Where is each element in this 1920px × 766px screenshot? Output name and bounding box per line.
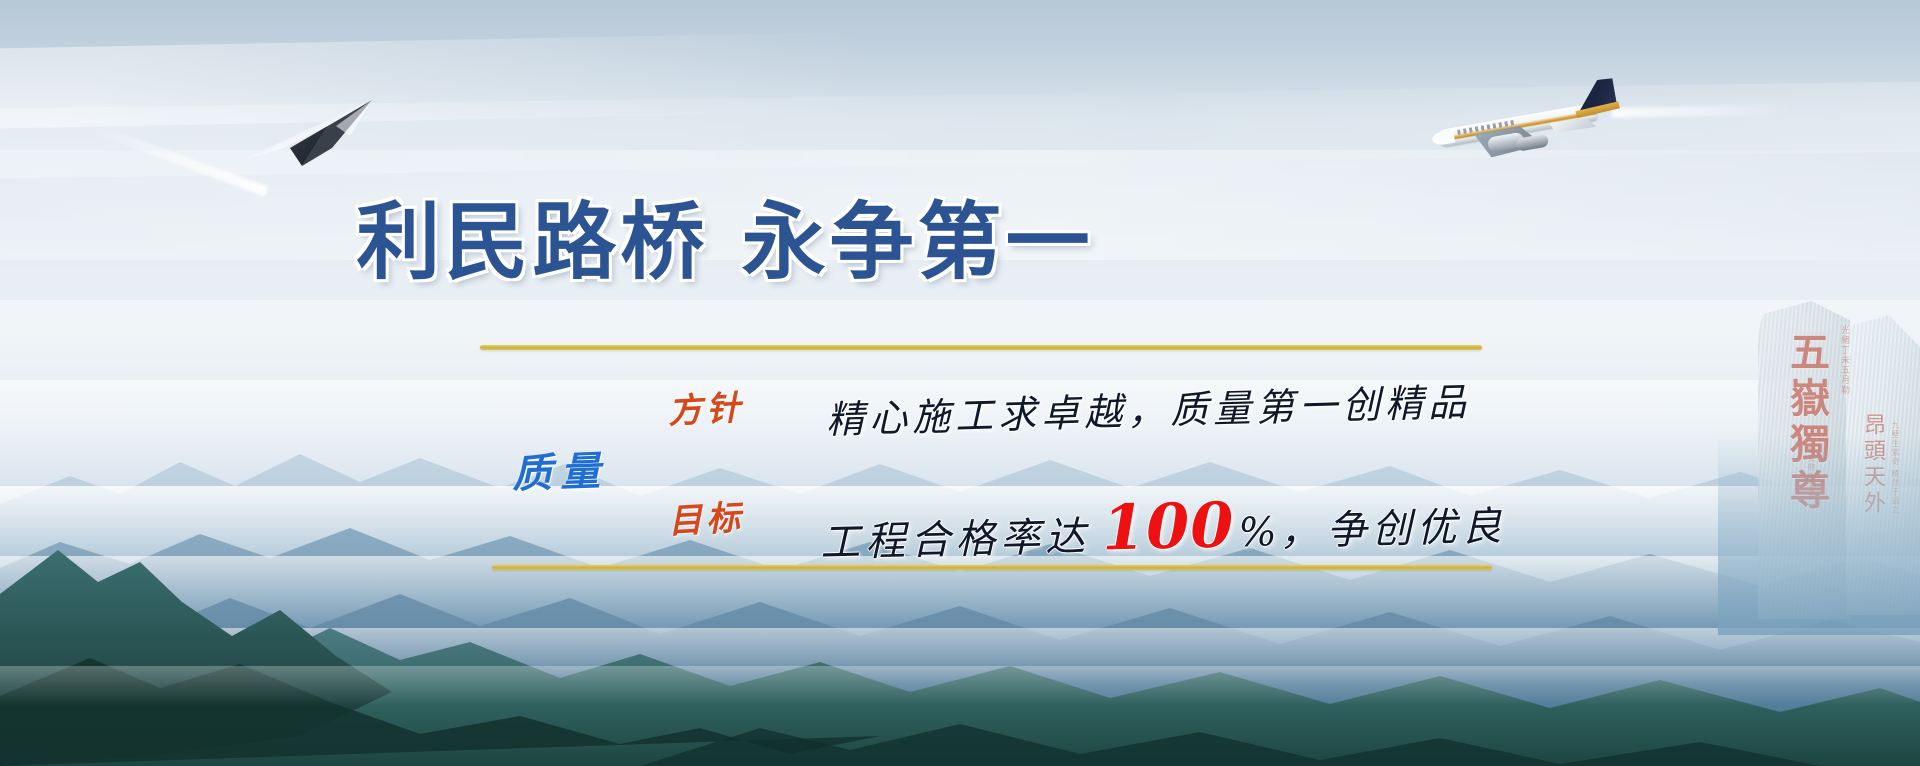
slogan-line-2-suffix: 争创优良 bbox=[1326, 494, 1507, 556]
stone-monument: 光緒丁未五月勒 五嶽獨尊 泰安府正堂書 昂頭天外 九壁生紫奇 曉然于道之 bbox=[1738, 285, 1920, 625]
slogan-line-1: 精心施工求卓越，质量第一创精品 bbox=[825, 371, 1471, 444]
divider-bottom bbox=[492, 565, 1492, 570]
label-goal: 目标 bbox=[667, 490, 745, 543]
monument-sub-inscription: 昂頭天外 bbox=[1858, 413, 1886, 517]
monument-inscription-tiny-far: 九壁生紫奇 曉然于道之 bbox=[1890, 421, 1900, 515]
hero-banner: 光緒丁未五月勒 五嶽獨尊 泰安府正堂書 昂頭天外 九壁生紫奇 曉然于道之 利民路… bbox=[0, 0, 1920, 766]
contrail bbox=[1611, 105, 1791, 118]
airplane-photo bbox=[1423, 69, 1663, 188]
slogan-line-2: 工程合格率达 100 %， 争创优良 bbox=[819, 482, 1507, 572]
divider-top bbox=[480, 345, 1482, 350]
monument-inscription-tiny-left: 泰安府正堂書 bbox=[1806, 445, 1816, 499]
slogan-line-2-number: 100 bbox=[1101, 488, 1235, 564]
monument-main-inscription: 五嶽獨尊 bbox=[1774, 331, 1832, 515]
label-policy: 方针 bbox=[667, 380, 745, 433]
paper-plane bbox=[232, 96, 382, 186]
slogan-line-2-percent: %， bbox=[1238, 498, 1323, 558]
monument-inscription-tiny-right: 光緒丁未五月勒 bbox=[1838, 325, 1849, 395]
page-title: 利民路桥 永争第一 bbox=[0, 175, 1450, 296]
slogan-line-2-prefix: 工程合格率达 bbox=[820, 504, 1091, 569]
label-quality: 质量 bbox=[511, 438, 609, 499]
